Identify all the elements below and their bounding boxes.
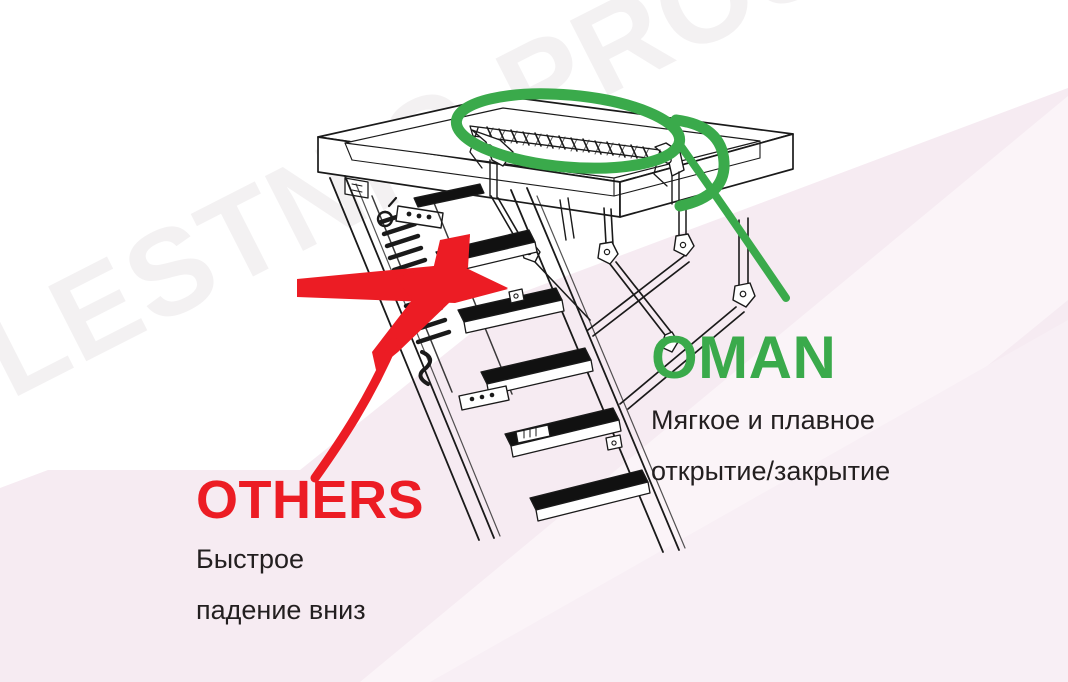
oman-title: OMAN: [651, 328, 890, 388]
ladder-illustration: [0, 0, 1068, 682]
green-highlight-circle: [453, 85, 786, 298]
callout-oman: OMAN Мягкое и плавное открытие/закрытие: [651, 328, 890, 491]
center-support-rod: [560, 198, 574, 240]
mounting-brackets-upper: [345, 178, 368, 198]
annotation-layer: [0, 0, 1068, 682]
gas-spring-damper: [470, 126, 684, 204]
others-subtitle-line2: падение вниз: [196, 591, 424, 629]
watermark-text: LESTNIC-PROSTO.RU: [0, 0, 1068, 425]
ceiling-hatch-box: [318, 96, 793, 217]
oman-subtitle-line1: Мягкое и плавное: [651, 401, 890, 439]
mounting-brackets-lower: [459, 289, 622, 450]
ladder-treads: [414, 184, 650, 521]
background-white-base: [0, 0, 1068, 682]
others-subtitle-line1: Быстрое: [196, 540, 424, 578]
background-pink-wedge: [0, 88, 1068, 682]
background-layer: [0, 0, 1068, 682]
red-cross-arrow: [297, 234, 508, 478]
callout-others: OTHERS Быстрое падение вниз: [196, 473, 424, 630]
oman-subtitle-line2: открытие/закрытие: [651, 452, 890, 490]
background-white-notch: [0, 0, 700, 470]
background-shapes: [0, 0, 1068, 682]
poster-canvas: LESTNIC-PROSTO.RU: [0, 0, 1068, 682]
others-title: OTHERS: [196, 473, 424, 527]
coil-spring: [378, 198, 449, 384]
